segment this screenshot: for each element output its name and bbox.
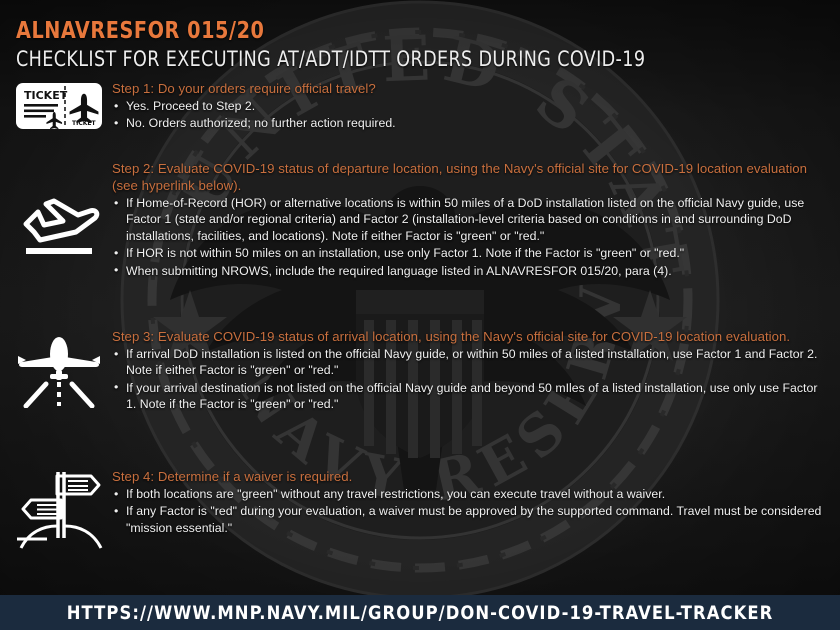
page-title: ALNAVRESFOR 015/20: [16, 18, 771, 44]
svg-text:TICKET: TICKET: [24, 89, 68, 102]
step-1: TICKET TICKET Step 1: Do your orders req…: [6, 80, 526, 132]
step-3-heading: Step 3: Evaluate COVID-19 status of arri…: [112, 328, 828, 345]
svg-text:TICKET: TICKET: [72, 120, 96, 127]
poster-header: ALNAVRESFOR 015/20 CHECKLIST FOR EXECUTI…: [16, 18, 828, 71]
signpost-directions-icon: [6, 468, 112, 550]
list-item: If any Factor is "red" during your evalu…: [112, 503, 828, 536]
airline-ticket-icon: TICKET TICKET: [6, 80, 112, 132]
airplane-arrival-icon: [6, 328, 112, 413]
airplane-departure-icon: [6, 160, 112, 279]
step-1-body: Step 1: Do your orders require official …: [112, 80, 526, 132]
step-2-bullets: If Home-of-Record (HOR) or alternative l…: [112, 195, 828, 279]
travel-tracker-link[interactable]: HTTPS://WWW.MNP.NAVY.MIL/GROUP/DON-COVID…: [67, 602, 774, 624]
step-4-bullets: If both locations are "green" without an…: [112, 486, 828, 536]
list-item: If Home-of-Record (HOR) or alternative l…: [112, 195, 828, 244]
step-1-heading: Step 1: Do your orders require official …: [112, 80, 520, 97]
list-item: If HOR is not within 50 miles on an inst…: [112, 245, 828, 261]
list-item: If arrival DoD installation is listed on…: [112, 346, 828, 379]
step-3-body: Step 3: Evaluate COVID-19 status of arri…: [112, 328, 834, 413]
step-3: Step 3: Evaluate COVID-19 status of arri…: [6, 328, 834, 413]
list-item: When submitting NROWS, include the requi…: [112, 263, 828, 279]
list-item: If both locations are "green" without an…: [112, 486, 828, 502]
infographic-poster: UNITED STATES NAVY RESERVE: [0, 0, 840, 630]
step-4-heading: Step 4: Determine if a waiver is require…: [112, 468, 828, 485]
footer-url-bar: HTTPS://WWW.MNP.NAVY.MIL/GROUP/DON-COVID…: [0, 595, 840, 630]
step-2-body: Step 2: Evaluate COVID-19 status of depa…: [112, 160, 834, 279]
step-2-heading: Step 2: Evaluate COVID-19 status of depa…: [112, 160, 828, 194]
step-1-bullets: Yes. Proceed to Step 2. No. Orders autho…: [112, 98, 520, 132]
list-item: If your arrival destination is not liste…: [112, 380, 828, 413]
step-4: Step 4: Determine if a waiver is require…: [6, 468, 834, 550]
list-item: No. Orders authorized; no further action…: [112, 115, 520, 131]
page-subtitle: CHECKLIST FOR EXECUTING AT/ADT/IDTT ORDE…: [16, 47, 771, 71]
step-3-bullets: If arrival DoD installation is listed on…: [112, 346, 828, 413]
step-2: Step 2: Evaluate COVID-19 status of depa…: [6, 160, 834, 279]
step-4-body: Step 4: Determine if a waiver is require…: [112, 468, 834, 550]
list-item: Yes. Proceed to Step 2.: [112, 98, 520, 114]
